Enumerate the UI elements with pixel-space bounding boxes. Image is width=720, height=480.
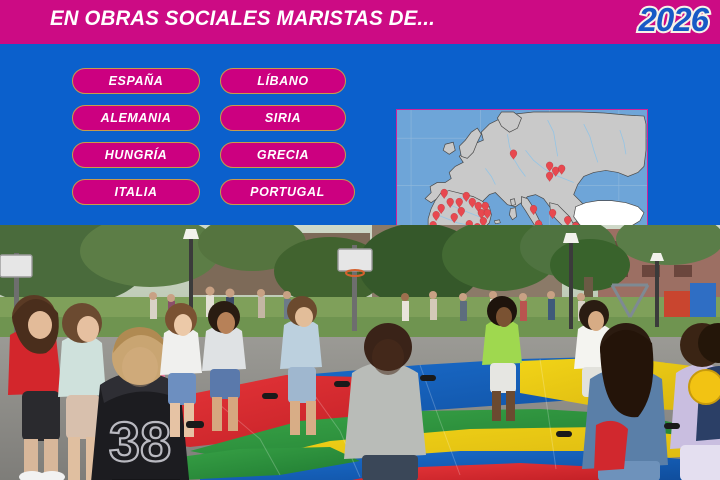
country-button-grecia[interactable]: GRECIA — [220, 142, 346, 168]
country-button-libano[interactable]: LÍBANO — [220, 68, 346, 94]
country-button-label: SIRIA — [265, 111, 301, 125]
country-button-portugal[interactable]: PORTUGAL — [220, 179, 355, 205]
country-column-right: LÍBANO SIRIA GRECIA PORTUGAL — [220, 68, 355, 216]
country-column-left: ESPAÑA ALEMANIA HUNGRÍA ITALIA — [72, 68, 200, 216]
year-logo: 2026 — [639, 1, 708, 39]
country-button-hungria[interactable]: HUNGRÍA — [72, 142, 200, 168]
country-button-label: ITALIA — [115, 185, 158, 199]
jersey-number: 38 — [109, 410, 171, 473]
red-bag — [594, 421, 628, 471]
yellow-ball — [689, 370, 720, 404]
country-button-espana[interactable]: ESPAÑA — [72, 68, 200, 94]
country-button-alemania[interactable]: ALEMANIA — [72, 105, 200, 131]
country-button-label: ALEMANIA — [101, 111, 172, 125]
country-button-italia[interactable]: ITALIA — [72, 179, 200, 205]
country-button-label: ESPAÑA — [109, 74, 164, 88]
country-button-siria[interactable]: SIRIA — [220, 105, 346, 131]
country-button-label: GRECIA — [257, 148, 309, 162]
country-button-label: PORTUGAL — [250, 185, 325, 199]
page-title: EN OBRAS SOCIALES MARISTAS DE... — [50, 7, 435, 31]
children-parachute-photo: 38 — [0, 225, 720, 480]
poster-root: EN OBRAS SOCIALES MARISTAS DE... 2026 ES… — [0, 0, 720, 480]
countries-section: ESPAÑA ALEMANIA HUNGRÍA ITALIA LÍBANO SI… — [0, 44, 720, 225]
country-button-label: LÍBANO — [257, 74, 309, 88]
country-button-label: HUNGRÍA — [105, 148, 168, 162]
photo-panel: 38 — [0, 225, 720, 480]
header-band: EN OBRAS SOCIALES MARISTAS DE... 2026 — [0, 0, 720, 44]
